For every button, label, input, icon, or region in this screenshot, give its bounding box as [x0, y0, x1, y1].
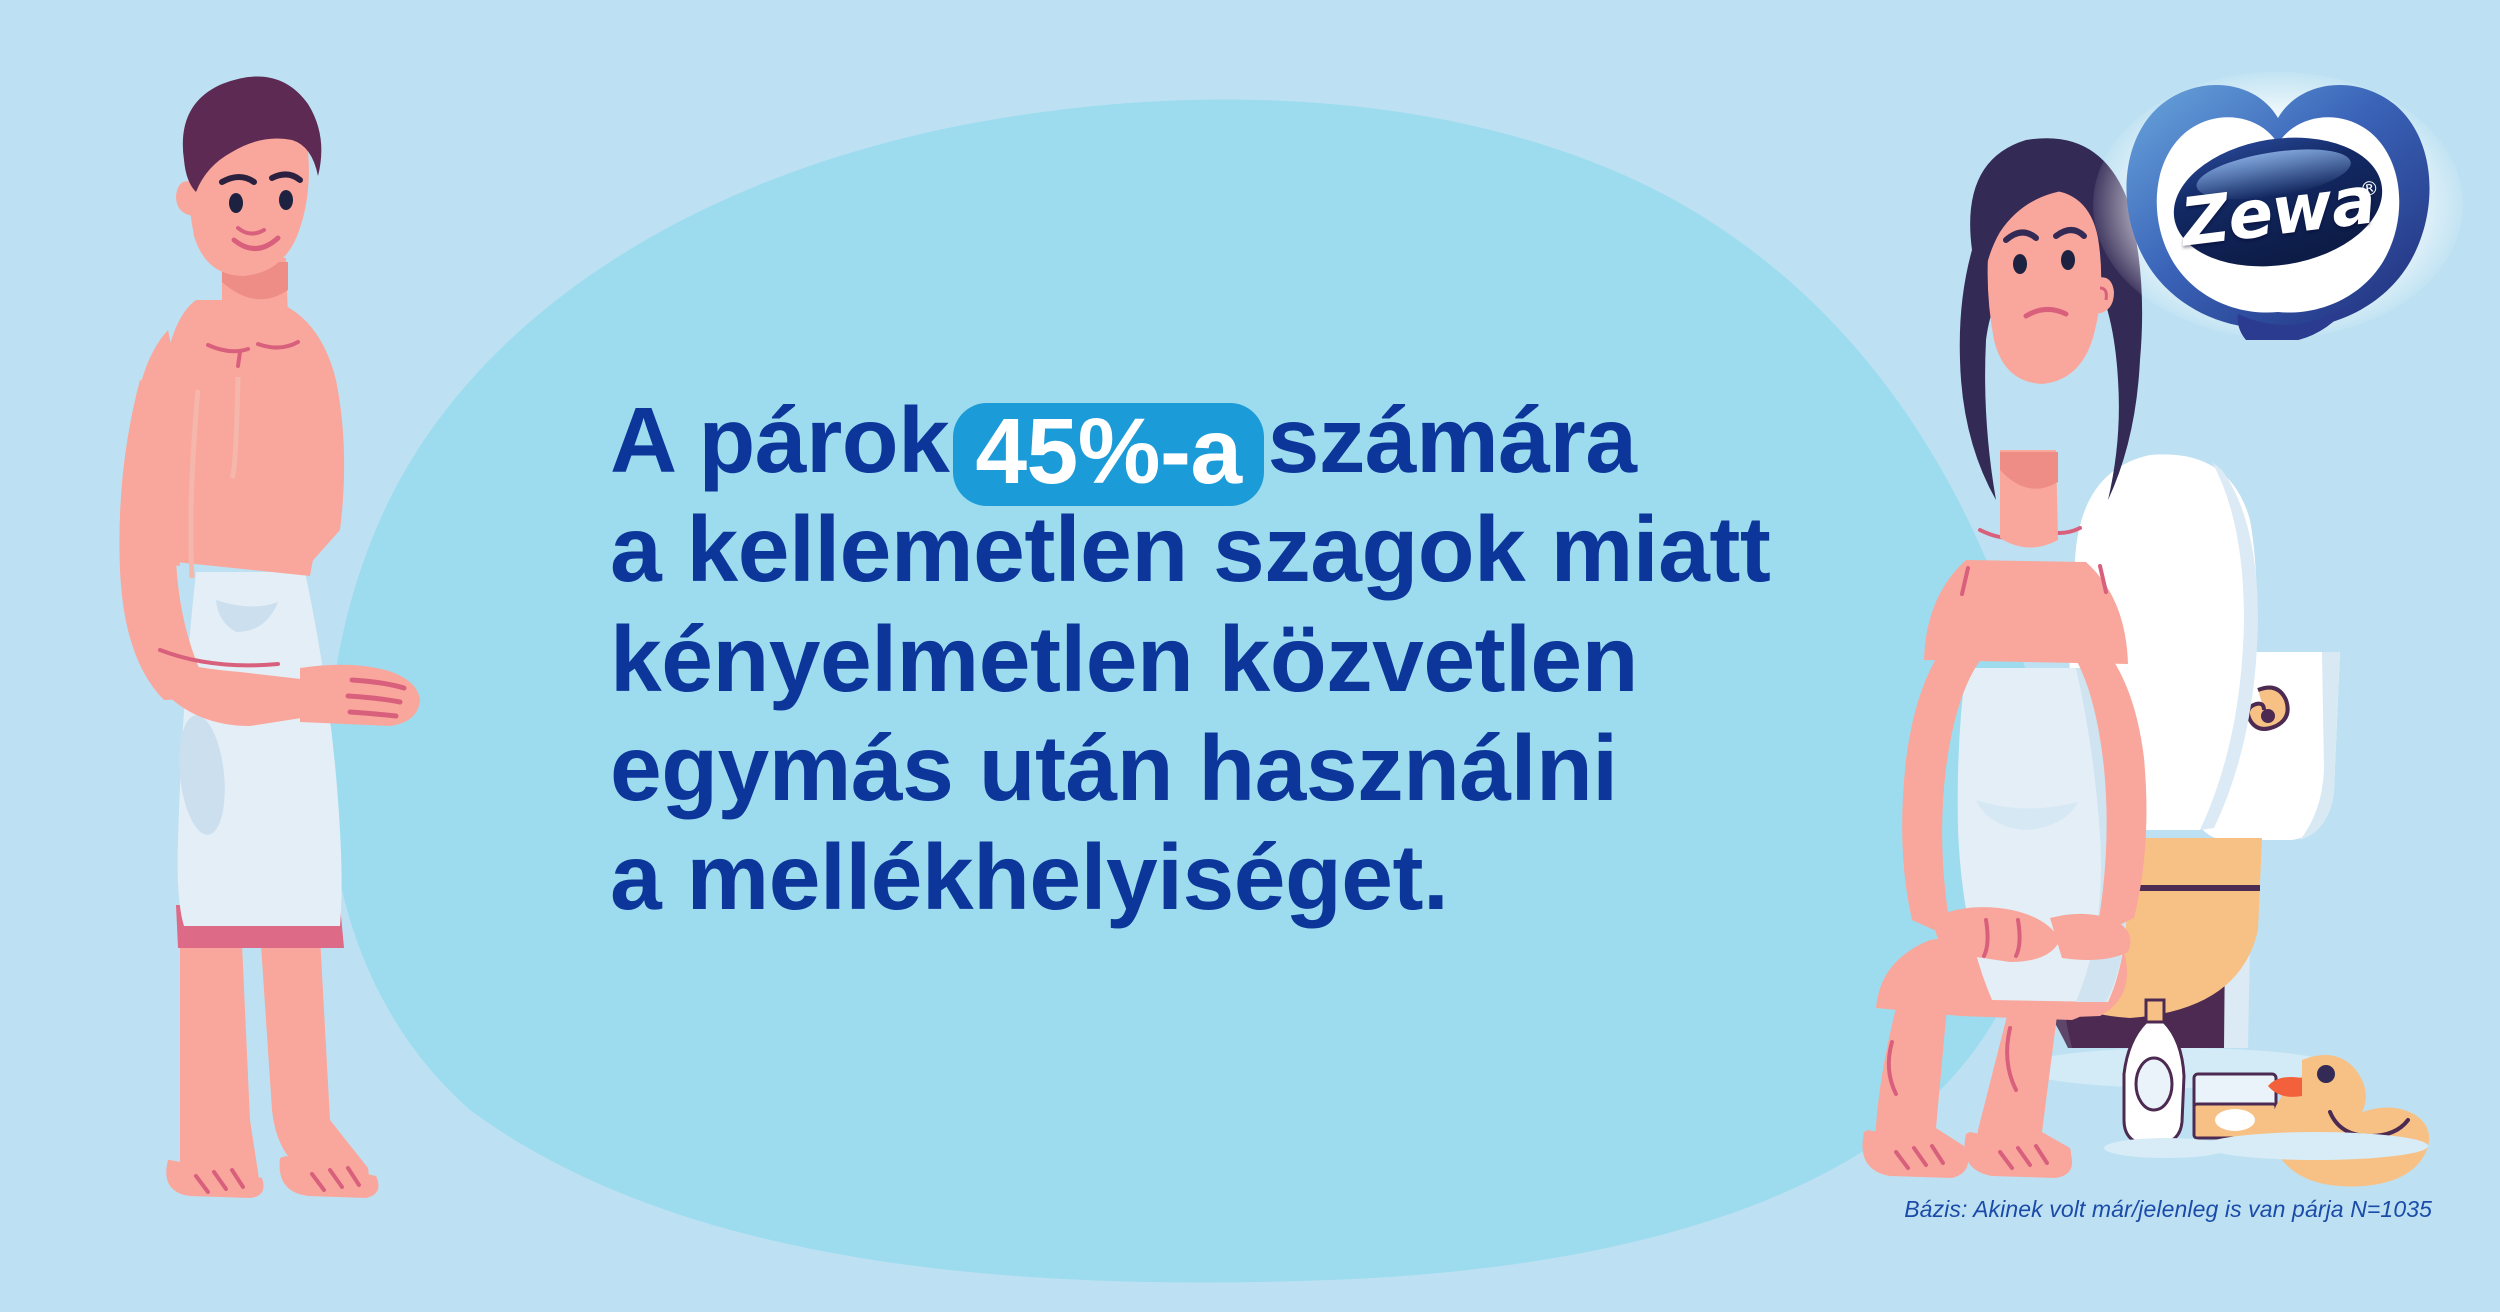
- registered-trademark-icon: ®: [2359, 177, 2381, 201]
- zewa-logo-mark: [2088, 70, 2468, 340]
- man-figure: [119, 76, 420, 1198]
- source-footnote: Bázis: Akinek volt már/jelenleg is van p…: [1904, 1196, 2432, 1223]
- headline-line-1: A párok45%-aszámára: [610, 386, 1950, 495]
- zewa-logo: Zewa ®: [2088, 70, 2468, 340]
- stat-badge: 45%-a: [953, 403, 1263, 506]
- headline-line-3: kényelmetlen közvetlen: [610, 605, 1950, 714]
- headline-line-2: a kellemetlen szagok miatt: [610, 495, 1950, 604]
- headline: A párok45%-aszámára a kellemetlen szagok…: [610, 386, 1950, 932]
- infographic-canvas: A párok45%-aszámára a kellemetlen szagok…: [0, 0, 2500, 1312]
- headline-line-1-after: számára: [1268, 388, 1637, 492]
- headline-line-1-before: A párok: [610, 388, 949, 492]
- headline-line-5: a mellékhelyiséget.: [610, 823, 1950, 932]
- headline-line-4: egymás után használni: [610, 714, 1950, 823]
